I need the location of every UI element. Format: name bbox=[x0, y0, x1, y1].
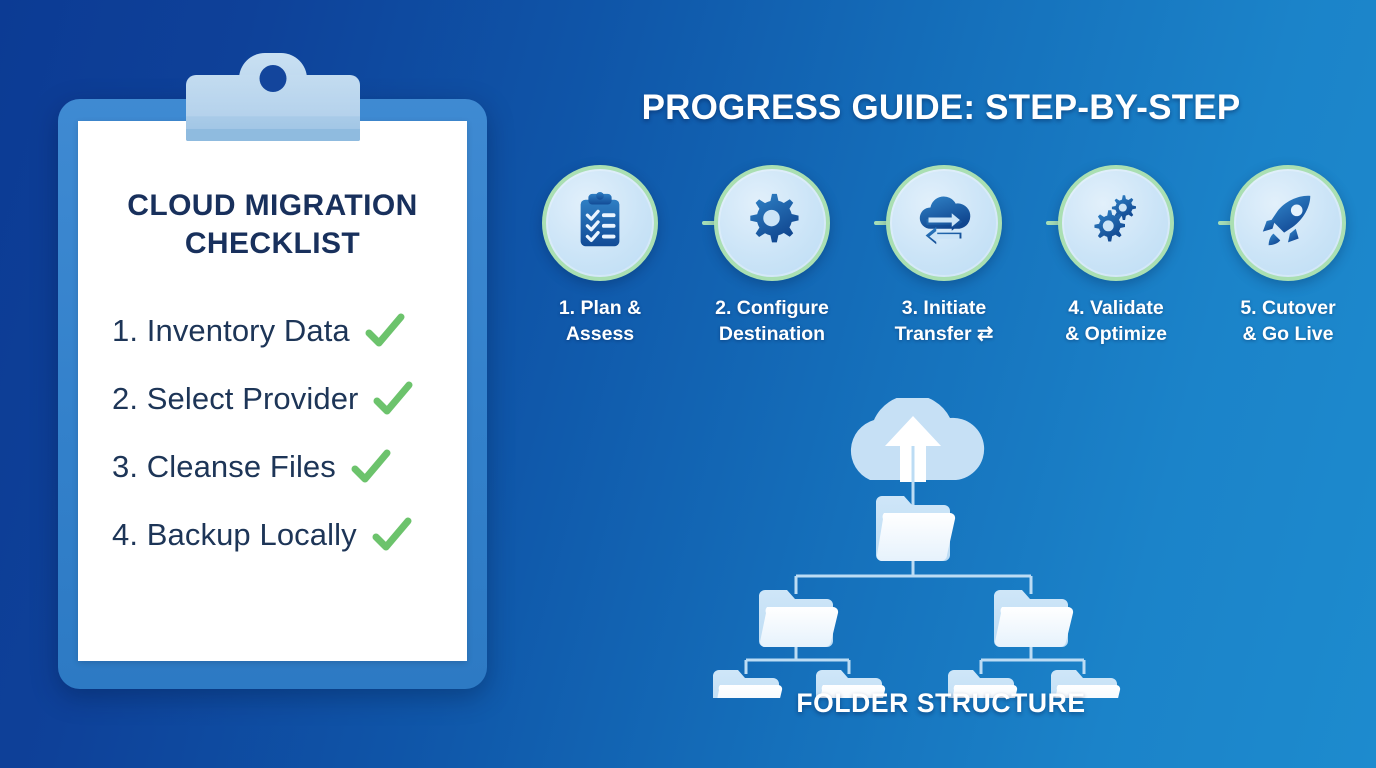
step-5[interactable]: 5. Cutover & Go Live bbox=[1222, 165, 1354, 347]
progress-panel: PROGRESS GUIDE: STEP-BY-STEP bbox=[506, 0, 1376, 768]
gears-icon bbox=[1085, 190, 1147, 257]
step-5-circle[interactable] bbox=[1230, 165, 1346, 281]
progress-guide-title: PROGRESS GUIDE: STEP-BY-STEP bbox=[506, 88, 1376, 128]
rocket-icon bbox=[1257, 190, 1319, 257]
folder-tree-svg bbox=[691, 398, 1191, 698]
step-3-label: 3. Initiate Transfer ⇄ bbox=[895, 296, 994, 347]
checklist-items: 1. Inventory Data 2. Select Provider 3. … bbox=[78, 297, 467, 569]
step-3[interactable]: 3. Initiate Transfer ⇄ bbox=[878, 165, 1010, 347]
clip-hole bbox=[259, 65, 286, 92]
cloud-transfer-icon bbox=[913, 190, 975, 257]
gear-icon bbox=[741, 190, 803, 257]
step-4[interactable]: 4. Validate & Optimize bbox=[1050, 165, 1182, 347]
step-1-label: 1. Plan & Assess bbox=[559, 296, 641, 347]
checklist-title-line2: CHECKLIST bbox=[78, 225, 467, 263]
step-1-circle[interactable] bbox=[542, 165, 658, 281]
folder-icon-root bbox=[876, 496, 955, 561]
checklist-item-label: 4. Backup Locally bbox=[112, 517, 357, 553]
clipboard-clip bbox=[186, 53, 360, 141]
step-1[interactable]: 1. Plan & Assess bbox=[534, 165, 666, 347]
clip-foot bbox=[186, 129, 360, 141]
checklist-item-label: 3. Cleanse Files bbox=[112, 449, 336, 485]
check-icon bbox=[350, 446, 392, 488]
checklist-item-3[interactable]: 3. Cleanse Files bbox=[112, 433, 467, 501]
checklist-item-label: 2. Select Provider bbox=[112, 381, 358, 417]
checklist-item-2[interactable]: 2. Select Provider bbox=[112, 365, 467, 433]
folder-icon-branch-2 bbox=[994, 590, 1073, 647]
check-icon bbox=[372, 378, 414, 420]
step-4-label: 4. Validate & Optimize bbox=[1065, 296, 1167, 347]
step-2[interactable]: 2. Configure Destination bbox=[706, 165, 838, 347]
checklist-item-1[interactable]: 1. Inventory Data bbox=[112, 297, 467, 365]
folder-icon-branch-1 bbox=[759, 590, 838, 647]
steps-row: 1. Plan & Assess 2. Configure Dest bbox=[534, 165, 1354, 347]
clipboard-check-icon bbox=[569, 190, 631, 257]
step-5-label: 5. Cutover & Go Live bbox=[1240, 296, 1335, 347]
checklist-item-label: 1. Inventory Data bbox=[112, 313, 350, 349]
step-2-label: 2. Configure Destination bbox=[715, 296, 829, 347]
step-3-circle[interactable] bbox=[886, 165, 1002, 281]
checklist-paper: CLOUD MIGRATION CHECKLIST 1. Inventory D… bbox=[78, 121, 467, 661]
check-icon bbox=[364, 310, 406, 352]
step-2-circle[interactable] bbox=[714, 165, 830, 281]
cloud-upload-icon bbox=[851, 398, 984, 482]
checklist-title-line1: CLOUD MIGRATION bbox=[78, 187, 467, 225]
step-4-circle[interactable] bbox=[1058, 165, 1174, 281]
checklist-title: CLOUD MIGRATION CHECKLIST bbox=[78, 187, 467, 263]
clipboard-card: CLOUD MIGRATION CHECKLIST 1. Inventory D… bbox=[58, 99, 487, 689]
folder-structure-diagram bbox=[691, 398, 1191, 698]
folder-structure-label: FOLDER STRUCTURE bbox=[506, 688, 1376, 719]
checklist-item-4[interactable]: 4. Backup Locally bbox=[112, 501, 467, 569]
check-icon bbox=[371, 514, 413, 556]
